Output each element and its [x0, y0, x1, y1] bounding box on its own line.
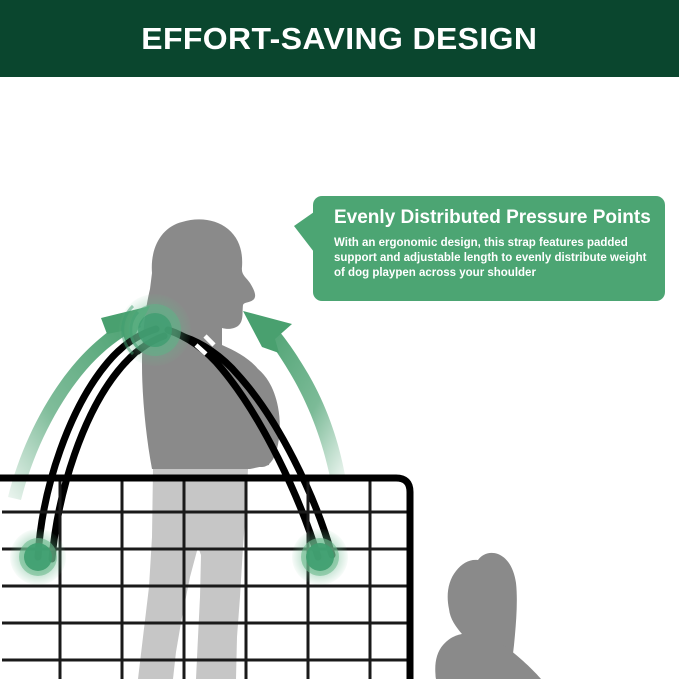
page-title: EFFORT-SAVING DESIGN	[141, 23, 537, 54]
dog-silhouette	[435, 553, 541, 679]
illustration-area	[0, 77, 679, 679]
pressure-point-shoulder	[119, 294, 191, 366]
callout-body-text: With an ergonomic design, this strap fea…	[334, 236, 648, 282]
person-silhouette	[138, 219, 280, 679]
infographic-canvas: EFFORT-SAVING DESIGN	[0, 0, 679, 679]
header-banner: EFFORT-SAVING DESIGN	[0, 0, 679, 77]
callout-heading: Evenly Distributed Pressure Points	[334, 207, 648, 229]
pressure-point-left-anchor	[10, 529, 66, 585]
callout-pointer	[294, 212, 314, 252]
pressure-point-right-anchor	[292, 529, 348, 585]
callout-box: Evenly Distributed Pressure Points With …	[313, 196, 665, 301]
person-legs	[138, 469, 248, 679]
